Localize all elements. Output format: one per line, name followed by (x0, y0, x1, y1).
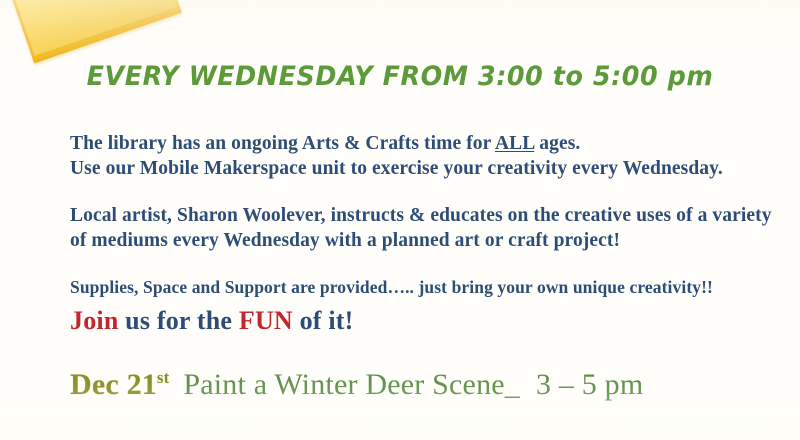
flyer-page: EVERY WEDNESDAY FROM 3:00 to 5:00 pm The… (0, 0, 800, 440)
join-call-to-action: Join us for the FUN of it! (70, 306, 354, 336)
paragraph-artist: Local artist, Sharon Woolever, instructs… (70, 203, 780, 253)
event-listing: Dec 21stPaint a Winter Deer Scene_3 – 5 … (70, 368, 643, 402)
paragraph-intro: The library has an ongoing Arts & Crafts… (70, 131, 780, 181)
join-word-fun: FUN (239, 306, 293, 335)
paragraph-artist-line-2: of mediums every Wednesday with a planne… (70, 228, 780, 253)
paragraph-artist-line-1: Local artist, Sharon Woolever, instructs… (70, 203, 780, 228)
join-word-end: of it! (293, 306, 354, 335)
paragraph-supplies-line-1: Supplies, Space and Support are provided… (70, 275, 780, 300)
event-date-text: Dec 21 (70, 368, 157, 401)
page-headline: EVERY WEDNESDAY FROM 3:00 to 5:00 pm (24, 61, 776, 92)
paragraph-supplies: Supplies, Space and Support are provided… (70, 275, 780, 300)
event-title: Paint a Winter Deer Scene_ (183, 368, 520, 401)
paragraph-intro-line-1: The library has an ongoing Arts & Crafts… (70, 131, 780, 156)
event-date-ordinal-suffix: st (157, 368, 169, 387)
body-copy: The library has an ongoing Arts & Crafts… (70, 131, 780, 300)
intro-text-before: The library has an ongoing Arts & Crafts… (70, 133, 495, 154)
join-word-join: Join (70, 306, 118, 335)
event-date: Dec 21st (70, 368, 169, 401)
paragraph-intro-line-2: Use our Mobile Makerspace unit to exerci… (70, 156, 780, 181)
yellow-paper-corner-graphic (0, 0, 182, 63)
intro-text-after: ages. (534, 133, 580, 154)
join-word-middle: us for the (118, 306, 238, 335)
intro-text-underlined: ALL (495, 133, 534, 154)
event-time: 3 – 5 pm (536, 368, 643, 401)
